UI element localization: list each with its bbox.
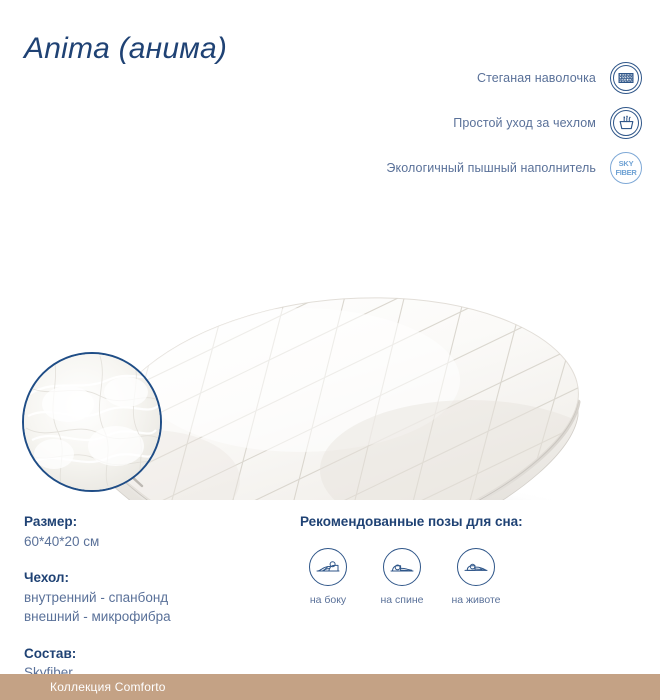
- feature-label: Стеганая наволочка: [477, 71, 596, 85]
- spec-heading: Состав:: [24, 644, 274, 664]
- sleep-pose-stomach: на животе: [448, 548, 504, 606]
- wash-basin-icon: [610, 107, 642, 139]
- footer-collection-label: Коллекция Comforto: [50, 680, 166, 694]
- sky-fiber-line-2: FIBER: [615, 169, 636, 177]
- page-title: Anima (анима): [24, 32, 227, 66]
- sleep-pose-label: на спине: [381, 594, 424, 606]
- quilted-fabric-icon: [610, 62, 642, 94]
- sleep-pose-back: на спине: [374, 548, 430, 606]
- spec-value: 60*40*20 см: [24, 532, 274, 552]
- sleep-pose-side: на боку: [300, 548, 356, 606]
- feature-label: Экологичный пышный наполнитель: [386, 161, 596, 175]
- sleep-back-icon: [383, 548, 421, 586]
- spec-value: внутренний - спанбонд: [24, 588, 274, 608]
- spec-heading: Размер:: [24, 512, 274, 532]
- sleep-pose-label: на боку: [310, 594, 346, 606]
- feature-item-easy-care: Простой уход за чехлом: [453, 107, 642, 139]
- sleep-poses-title: Рекомендованные позы для сна:: [300, 512, 630, 532]
- feature-label: Простой уход за чехлом: [453, 116, 596, 130]
- spec-group-cover: Чехол: внутренний - спанбонд внешний - м…: [24, 568, 274, 627]
- product-card: Anima (анима): [0, 0, 660, 700]
- spec-value: внешний - микрофибра: [24, 607, 274, 627]
- sleep-poses-section: Рекомендованные позы для сна: на боку: [300, 512, 630, 606]
- feature-list: Стеганая наволочка Простой уход за чехло…: [386, 62, 642, 184]
- specifications: Размер: 60*40*20 см Чехол: внутренний - …: [24, 512, 274, 683]
- spec-heading: Чехол:: [24, 568, 274, 588]
- feature-item-eco-filling: Экологичный пышный наполнитель SKY FIBER: [386, 152, 642, 184]
- sleep-pose-label: на животе: [451, 594, 500, 606]
- spec-group-size: Размер: 60*40*20 см: [24, 512, 274, 551]
- sleep-poses-list: на боку на спине: [300, 548, 630, 606]
- sleep-side-icon: [309, 548, 347, 586]
- sky-fiber-line-1: SKY: [619, 160, 634, 168]
- sky-fiber-icon: SKY FIBER: [610, 152, 642, 184]
- feature-item-quilted-cover: Стеганая наволочка: [477, 62, 642, 94]
- fiber-closeup-inset: [22, 352, 162, 492]
- sleep-stomach-icon: [457, 548, 495, 586]
- footer-bar: Коллекция Comforto: [0, 674, 660, 700]
